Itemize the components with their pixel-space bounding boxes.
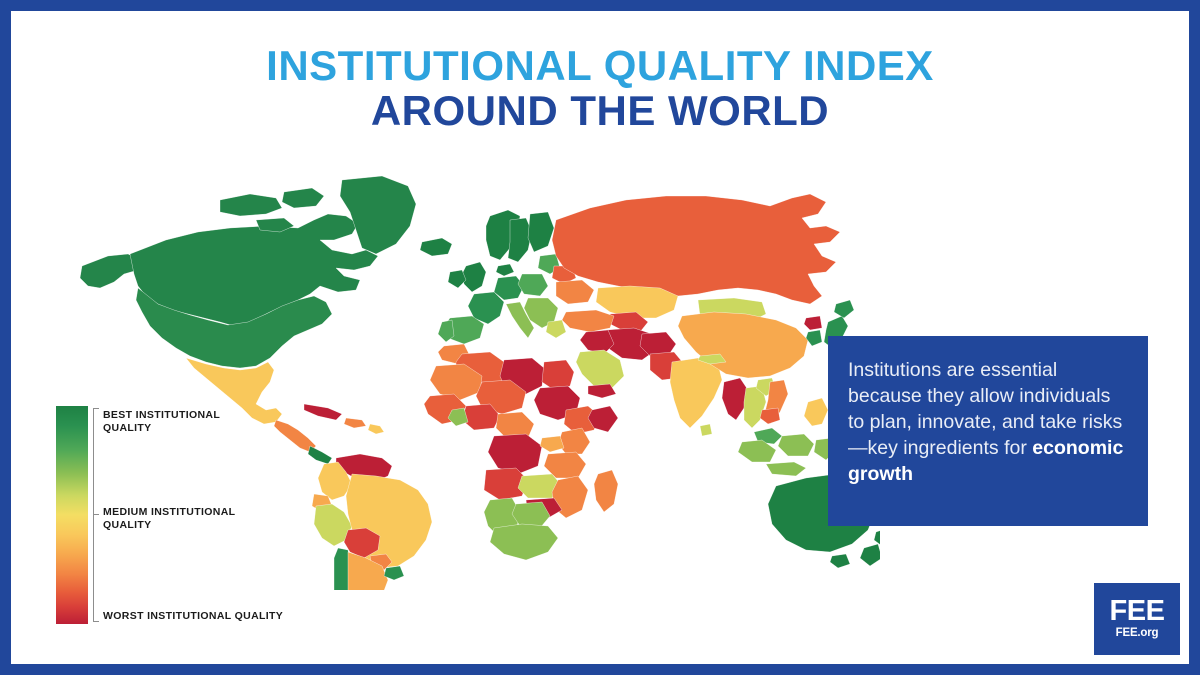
fee-logo[interactable]: FEE FEE.org xyxy=(1094,583,1180,655)
region-poland xyxy=(518,274,548,296)
region-philippines xyxy=(804,398,828,426)
region-new-zealand-south xyxy=(860,544,880,566)
region-turkey xyxy=(562,310,614,332)
region-canada-arctic-1 xyxy=(220,194,282,216)
region-japan-north xyxy=(834,300,854,318)
region-denmark xyxy=(496,264,514,276)
region-sweden xyxy=(508,218,532,262)
legend-label-best: BEST INSTITUTIONAL QUALITY xyxy=(103,409,220,436)
region-south-africa xyxy=(490,524,558,560)
region-south-korea xyxy=(806,330,822,346)
quote-paragraph: Institutions are essential because they … xyxy=(848,358,1128,488)
region-cambodia xyxy=(760,408,780,424)
region-greenland xyxy=(340,176,416,254)
region-tasmania xyxy=(830,554,850,568)
map-legend: BEST INSTITUTIONAL QUALITY MEDIUM INSTIT… xyxy=(56,406,356,630)
callout-quote-box: Institutions are essential because they … xyxy=(828,336,1148,526)
region-iraq xyxy=(580,330,614,354)
region-caribbean-isles xyxy=(368,424,384,434)
legend-label-medium: MEDIUM INSTITUTIONAL QUALITY xyxy=(103,506,235,533)
frame-border-top xyxy=(0,0,1200,11)
legend-gradient-bar xyxy=(56,406,88,624)
region-united-kingdom xyxy=(462,262,486,292)
frame-border-left xyxy=(0,0,11,675)
region-greece xyxy=(546,320,566,338)
fee-logo-url: FEE.org xyxy=(1116,627,1159,640)
region-indonesia-borneo xyxy=(778,434,814,456)
legend-axis-bracket xyxy=(93,408,99,622)
frame-border-bottom xyxy=(0,664,1200,675)
fee-logo-wordmark: FEE xyxy=(1110,598,1165,625)
region-india xyxy=(670,358,722,428)
region-saudi-arabia xyxy=(576,350,624,388)
title-line-primary: INSTITUTIONAL QUALITY INDEX xyxy=(0,44,1200,88)
title-line-secondary: AROUND THE WORLD xyxy=(0,88,1200,133)
region-new-zealand-north xyxy=(874,528,880,546)
region-iceland xyxy=(420,238,452,256)
legend-label-worst: WORST INSTITUTIONAL QUALITY xyxy=(103,610,283,623)
region-sri-lanka xyxy=(700,424,712,436)
region-uganda xyxy=(540,436,564,452)
infographic-poster: INSTITUTIONAL QUALITY INDEX AROUND THE W… xyxy=(0,0,1200,675)
region-indonesia-java xyxy=(766,462,806,476)
region-madagascar xyxy=(594,470,618,512)
region-canada-arctic-2 xyxy=(282,188,324,208)
region-egypt xyxy=(542,360,574,390)
region-ukraine xyxy=(556,280,594,304)
legend-tick-medium xyxy=(93,514,99,515)
region-north-korea xyxy=(804,316,822,330)
region-russia xyxy=(552,194,840,304)
region-finland xyxy=(528,212,554,252)
frame-border-right xyxy=(1189,0,1200,675)
page-title: INSTITUTIONAL QUALITY INDEX AROUND THE W… xyxy=(0,44,1200,133)
